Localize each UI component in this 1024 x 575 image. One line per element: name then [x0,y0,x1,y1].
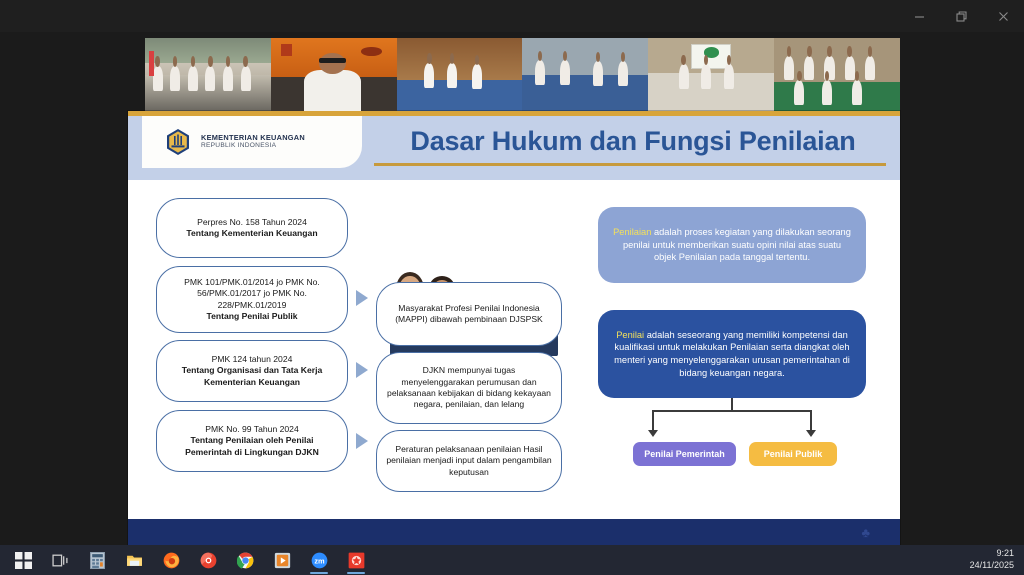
effect-box-mappi-text: Masyarakat Profesi Penilai Indonesia (MA… [386,303,552,326]
footer-ornament-icon: ♣ [861,525,870,540]
pill-penilai-pemerintah-label: Penilai Pemerintah [644,449,725,459]
flow-arrow-2 [356,362,368,378]
law-box-pmk-101-bold: Tentang Penilai Publik [206,311,297,321]
slide-body: Perpres No. 158 Tahun 2024 Tentang Kemen… [128,180,900,519]
participant-tile-3[interactable] [397,38,523,111]
participant-tile-6[interactable] [774,38,900,111]
flow-arrow-3 [356,433,368,449]
windows-taskbar: zm 9:21 24/11/2025 [0,545,1024,575]
taskbar-app-media-player[interactable] [265,545,299,575]
close-button[interactable] [982,0,1024,32]
task-view-button[interactable] [43,545,77,575]
definition-penilai: Penilai adalah seseorang yang memiliki k… [598,310,866,398]
taskbar-app-zoom[interactable]: zm [302,545,336,575]
participant-tile-5[interactable] [648,38,774,111]
minimize-button[interactable] [898,0,940,32]
law-box-pmk-124-bold: Tentang Organisasi dan Tata Kerja Kement… [182,365,323,386]
participant-tile-2[interactable] [271,38,397,111]
definition-penilaian-body: adalah proses kegiatan yang dilakukan se… [623,227,851,262]
taskbar-app-browser-red[interactable] [191,545,225,575]
taskbar-app-calculator[interactable] [80,545,114,575]
logo-line-2: REPUBLIK INDONESIA [201,142,305,150]
law-box-pmk-99-plain: PMK No. 99 Tahun 2024 [205,424,298,434]
effect-box-mappi: Masyarakat Profesi Penilai Indonesia (MA… [376,282,562,346]
logo-line-1: KEMENTERIAN KEUANGAN [201,134,305,143]
effect-box-djkn-tugas-text: DJKN mempunyai tugas menyelenggarakan pe… [386,365,552,410]
participant-tile-1[interactable] [145,38,271,111]
window-titlebar [0,0,1024,32]
slide-header: KEMENTERIAN KEUANGAN REPUBLIK INDONESIA … [128,111,900,180]
zoom-meeting-window: KEMENTERIAN KEUANGAN REPUBLIK INDONESIA … [0,0,1024,545]
title-underline [374,163,886,166]
start-button[interactable] [6,545,40,575]
law-box-perpres-158-plain: Perpres No. 158 Tahun 2024 [197,217,307,227]
pill-penilai-publik-label: Penilai Publik [764,449,823,459]
law-box-pmk-124: PMK 124 tahun 2024 Tentang Organisasi da… [156,340,348,402]
svg-text:zm: zm [314,556,325,565]
definition-penilaian-term: Penilaian [613,227,651,237]
participant-video-strip[interactable] [145,38,900,111]
effect-box-djkn-tugas: DJKN mempunyai tugas menyelenggarakan pe… [376,352,562,424]
definition-penilaian: Penilaian adalah proses kegiatan yang di… [598,207,866,283]
law-box-pmk-99: PMK No. 99 Tahun 2024 Tentang Penilaian … [156,410,348,472]
flow-arrow-1 [356,290,368,306]
pill-penilai-publik[interactable]: Penilai Publik [749,442,837,466]
law-box-perpres-158: Perpres No. 158 Tahun 2024 Tentang Kemen… [156,198,348,258]
definition-penilai-body: adalah seseorang yang memiliki kompetens… [614,330,850,378]
slide-footer: ♣ [128,519,900,545]
definition-penilai-term: Penilai [616,330,644,340]
kemenkeu-logo-plate: KEMENTERIAN KEUANGAN REPUBLIK INDONESIA [142,116,362,168]
taskbar-app-firefox[interactable] [154,545,188,575]
clock-time: 9:21 [970,548,1014,560]
taskbar-app-chrome[interactable] [228,545,262,575]
law-box-pmk-124-plain: PMK 124 tahun 2024 [212,354,293,364]
shared-slide: KEMENTERIAN KEUANGAN REPUBLIK INDONESIA … [128,111,900,545]
participant-tile-4[interactable] [522,38,648,111]
taskbar-app-recorder[interactable] [339,545,373,575]
law-box-pmk-99-bold: Tentang Penilaian oleh Penilai Pemerinta… [185,435,319,456]
taskbar-clock[interactable]: 9:21 24/11/2025 [970,548,1024,572]
law-box-pmk-101-plain: PMK 101/PMK.01/2014 jo PMK No. 56/PMK.01… [184,277,320,310]
effect-box-peraturan-text: Peraturan pelaksanaan penilaian Hasil pe… [386,444,552,478]
taskbar-app-file-explorer[interactable] [117,545,151,575]
pill-penilai-pemerintah[interactable]: Penilai Pemerintah [633,442,736,466]
law-box-perpres-158-bold: Tentang Kementerian Keuangan [186,228,317,238]
slide-title: Dasar Hukum dan Fungsi Penilaian [383,119,883,163]
effect-box-peraturan-pelaksanaan: Peraturan pelaksanaan penilaian Hasil pe… [376,430,562,492]
kemenkeu-crest-icon [164,128,192,156]
restore-button[interactable] [940,0,982,32]
clock-date: 24/11/2025 [970,560,1014,572]
law-box-pmk-101: PMK 101/PMK.01/2014 jo PMK No. 56/PMK.01… [156,266,348,333]
